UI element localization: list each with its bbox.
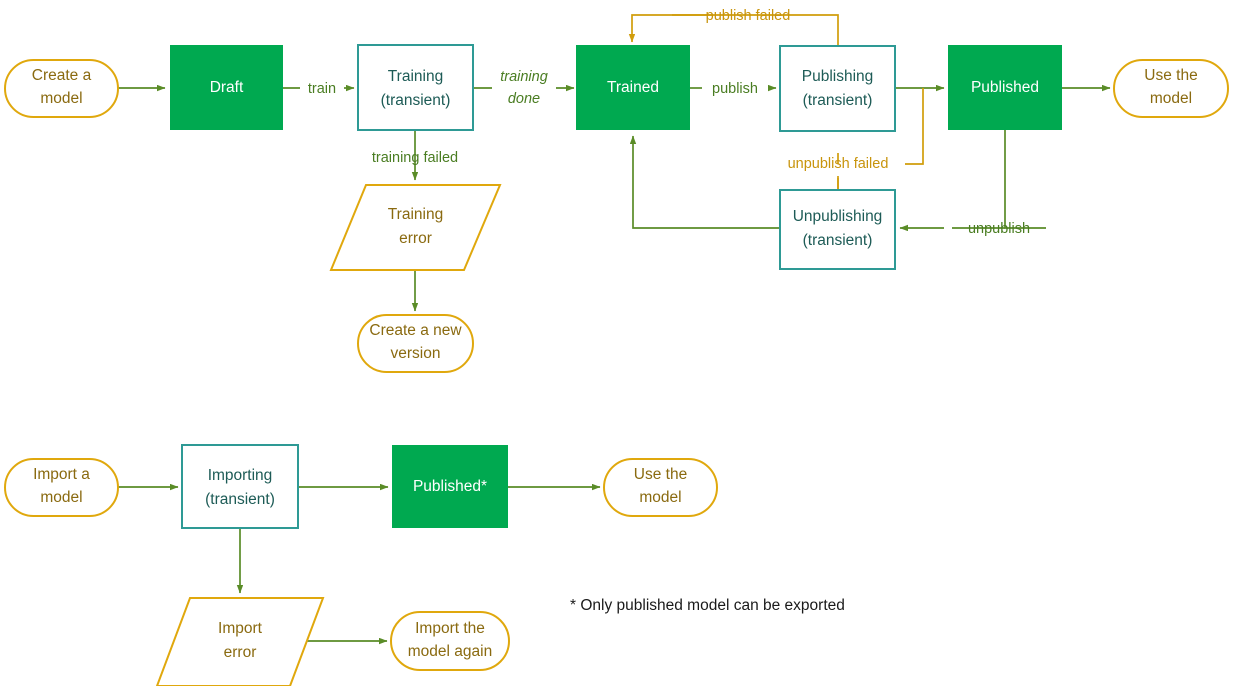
node-label-importing-line1: Importing bbox=[208, 467, 273, 484]
node-unpublishing-transient[interactable]: Unpublishing (transient) bbox=[780, 190, 895, 269]
node-create-new-version[interactable]: Create a new version bbox=[358, 315, 473, 372]
node-label-create-model-line1: Create a bbox=[32, 67, 92, 84]
edge-trained-to-publishing: publish bbox=[690, 81, 776, 97]
node-label-use-model-bottom-line1: Use the bbox=[634, 466, 687, 483]
node-label-use-model-top-line1: Use the bbox=[1144, 67, 1197, 84]
diagram-root: train training done training failed publ… bbox=[0, 0, 1233, 686]
node-label-training-error-line1: Training bbox=[388, 206, 443, 223]
edge-training-to-trained: training done bbox=[473, 69, 574, 107]
node-label-import-model-line1: Import a bbox=[33, 466, 90, 483]
node-label-unpublishing-line1: Unpublishing bbox=[793, 208, 883, 225]
edge-label-publish: publish bbox=[712, 81, 758, 97]
node-published[interactable]: Published bbox=[948, 45, 1062, 130]
node-use-the-model-bottom[interactable]: Use the model bbox=[604, 459, 717, 516]
node-training-transient[interactable]: Training (transient) bbox=[358, 45, 473, 130]
node-label-import-again-line1: Import the bbox=[415, 620, 485, 637]
node-label-import-error-line2: error bbox=[224, 644, 257, 661]
node-label-training-line1: Training bbox=[388, 68, 443, 85]
edge-label-publish-failed: publish failed bbox=[706, 8, 791, 24]
node-label-importing-line2: (transient) bbox=[205, 491, 275, 508]
node-label-published: Published bbox=[971, 79, 1039, 96]
node-import-the-model-again[interactable]: Import the model again bbox=[391, 612, 509, 670]
node-create-a-model[interactable]: Create a model bbox=[5, 60, 118, 117]
node-published-star[interactable]: Published* bbox=[392, 445, 508, 528]
node-draft[interactable]: Draft bbox=[170, 45, 283, 130]
node-use-the-model-top[interactable]: Use the model bbox=[1114, 60, 1228, 117]
flow-diagram-canvas: train training done training failed publ… bbox=[0, 0, 1233, 686]
node-import-a-model[interactable]: Import a model bbox=[5, 459, 118, 516]
edge-label-training-done-line1: training bbox=[500, 69, 548, 85]
node-label-trained: Trained bbox=[607, 79, 659, 96]
node-importing-transient[interactable]: Importing (transient) bbox=[182, 445, 298, 528]
node-label-draft: Draft bbox=[210, 79, 244, 96]
node-label-import-again-line2: model again bbox=[408, 643, 492, 660]
edge-draft-to-training: train bbox=[283, 81, 354, 97]
node-label-unpublishing-line2: (transient) bbox=[803, 232, 873, 249]
node-label-import-model-line2: model bbox=[40, 489, 82, 506]
node-label-create-model-line2: model bbox=[40, 90, 82, 107]
edge-label-training-done-line2: done bbox=[508, 91, 540, 107]
node-label-publishing-line2: (transient) bbox=[803, 92, 873, 109]
node-label-use-model-top-line2: model bbox=[1150, 90, 1192, 107]
footnote: * Only published model can be exported bbox=[570, 597, 845, 614]
edge-label-unpublish-failed: unpublish failed bbox=[788, 156, 889, 172]
edge-training-failed: training failed bbox=[372, 130, 458, 180]
edge-publish-failed: publish failed bbox=[632, 8, 838, 46]
node-label-publishing-line1: Publishing bbox=[802, 68, 874, 85]
node-import-error[interactable]: Import error bbox=[157, 598, 323, 686]
node-label-training-line2: (transient) bbox=[381, 92, 451, 109]
edge-label-unpublish: unpublish bbox=[968, 221, 1030, 237]
node-label-create-new-version-line2: version bbox=[391, 345, 441, 362]
edge-unpublishing-to-trained bbox=[633, 136, 780, 228]
edge-label-train: train bbox=[308, 81, 336, 97]
node-label-import-error-line1: Import bbox=[218, 620, 263, 637]
node-trained[interactable]: Trained bbox=[576, 45, 690, 130]
node-publishing-transient[interactable]: Publishing (transient) bbox=[780, 46, 895, 131]
node-label-create-new-version-line1: Create a new bbox=[369, 322, 462, 339]
node-label-use-model-bottom-line2: model bbox=[639, 489, 681, 506]
node-label-training-error-line2: error bbox=[399, 230, 432, 247]
edge-published-to-unpublishing: unpublish bbox=[900, 130, 1046, 237]
node-label-published-star: Published* bbox=[413, 478, 487, 495]
edge-label-training-failed: training failed bbox=[372, 150, 458, 166]
node-training-error[interactable]: Training error bbox=[331, 185, 500, 270]
